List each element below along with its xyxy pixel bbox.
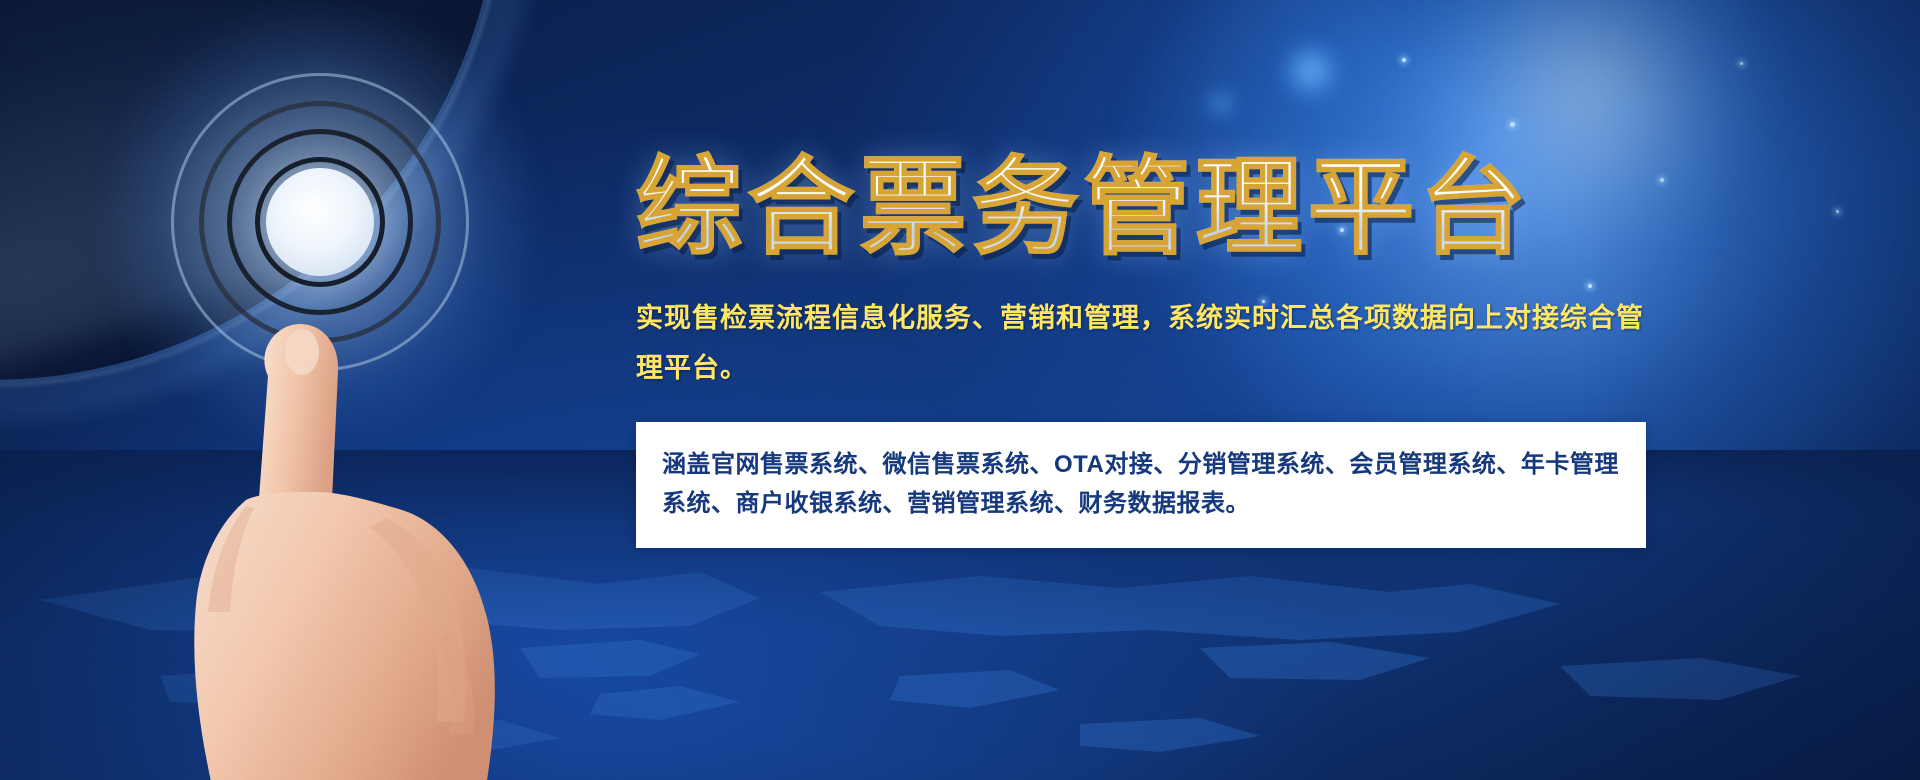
page-title: 综合票务管理平台 [636, 150, 1706, 264]
feature-infobox: 涵盖官网售票系统、微信售票系统、OTA对接、分销管理系统、会员管理系统、年卡管理… [636, 422, 1646, 548]
promo-banner: 综合票务管理平台 实现售检票流程信息化服务、营销和管理，系统实时汇总各项数据向上… [0, 0, 1920, 780]
banner-content: 综合票务管理平台 实现售检票流程信息化服务、营销和管理，系统实时汇总各项数据向上… [636, 150, 1706, 548]
feature-infobox-text: 涵盖官网售票系统、微信售票系统、OTA对接、分销管理系统、会员管理系统、年卡管理… [662, 446, 1620, 524]
banner-subtitle: 实现售检票流程信息化服务、营销和管理，系统实时汇总各项数据向上对接综合管理平台。 [636, 294, 1646, 394]
pointing-hand-icon [150, 200, 570, 780]
